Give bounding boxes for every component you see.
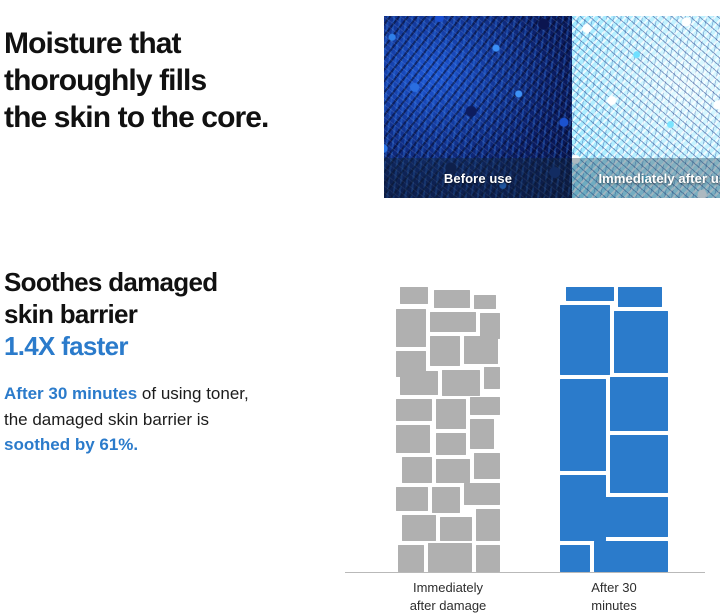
barrier-brick-damaged <box>436 433 466 455</box>
before-caption-text: Before use <box>444 171 512 186</box>
barrier-brick-damaged <box>402 457 432 483</box>
barrier-brick-damaged <box>474 295 496 309</box>
barrier-brick-damaged <box>402 515 436 541</box>
barrier-brick-damaged <box>396 399 432 421</box>
chart-column-after-30-minutes <box>560 287 668 572</box>
barrier-brick-damaged <box>400 287 428 304</box>
barrier-brick-damaged <box>430 312 476 332</box>
barrier-heading: Soothes damagedskin barrier1.4X faster <box>4 266 334 363</box>
barrier-brick-damaged <box>440 517 472 541</box>
barrier-brick-damaged <box>396 309 426 347</box>
barrier-brick-soothed <box>614 311 668 373</box>
moisture-heading: Moisture that thoroughly fills the skin … <box>4 26 344 137</box>
after-caption-bar: Immediately after use <box>572 158 720 198</box>
barrier-brick-damaged <box>470 419 494 449</box>
barrier-brick-soothed <box>560 545 590 572</box>
after-caption-text: Immediately after use <box>598 171 720 186</box>
skin-hydration-microscopy-figure: Before use Immediately after use <box>384 16 720 198</box>
barrier-brick-soothed <box>610 377 668 431</box>
chart-baseline-axis <box>345 572 705 573</box>
barrier-brick-damaged <box>398 545 424 572</box>
barrier-brick-soothed <box>594 497 668 537</box>
barrier-brick-damaged <box>476 545 500 572</box>
barrier-brick-damaged <box>476 509 500 541</box>
barrier-brick-damaged <box>470 397 500 415</box>
barrier-heading-accent: 1.4X faster <box>4 330 334 362</box>
barrier-brick-damaged <box>484 367 500 389</box>
barrier-heading-line1: Soothes damaged <box>4 267 217 297</box>
barrier-brick-soothed <box>560 379 606 471</box>
chart-label-immediately-after-damage: Immediately after damage <box>370 579 526 616</box>
barrier-paragraph: After 30 minutes of using toner, the dam… <box>4 381 262 458</box>
barrier-brick-damaged <box>396 425 430 453</box>
barrier-brick-damaged <box>436 399 466 429</box>
barrier-brick-damaged <box>442 370 480 396</box>
microscopy-after-panel: Immediately after use <box>572 16 720 198</box>
barrier-brick-soothed <box>618 287 662 307</box>
before-caption-bar: Before use <box>384 158 572 198</box>
barrier-heading-line2: skin barrier <box>4 299 137 329</box>
barrier-brick-damaged <box>474 453 500 479</box>
barrier-section: Soothes damagedskin barrier1.4X faster A… <box>0 266 720 605</box>
barrier-copy-block: Soothes damagedskin barrier1.4X faster A… <box>4 266 334 458</box>
barrier-recovery-chart: Immediately after damage After 30 minute… <box>340 276 720 605</box>
chart-column-damaged <box>396 287 500 572</box>
barrier-brick-damaged <box>400 371 438 395</box>
moisture-section: Moisture that thoroughly fills the skin … <box>0 0 720 190</box>
barrier-brick-soothed <box>610 435 668 493</box>
barrier-brick-soothed <box>594 541 668 572</box>
paragraph-highlight-end: soothed by 61%. <box>4 435 138 454</box>
barrier-brick-soothed <box>560 305 610 375</box>
barrier-brick-damaged <box>464 336 498 364</box>
barrier-brick-damaged <box>436 459 470 483</box>
barrier-brick-damaged <box>428 543 472 572</box>
paragraph-highlight-start: After 30 minutes <box>4 384 137 403</box>
barrier-brick-soothed <box>566 287 614 301</box>
barrier-brick-damaged <box>464 483 500 505</box>
chart-label-after-30-minutes: After 30 minutes <box>544 579 684 616</box>
barrier-brick-damaged <box>434 290 470 308</box>
barrier-brick-damaged <box>396 487 428 511</box>
microscopy-before-panel: Before use <box>384 16 572 198</box>
barrier-brick-damaged <box>432 487 460 513</box>
barrier-brick-damaged <box>430 336 460 366</box>
